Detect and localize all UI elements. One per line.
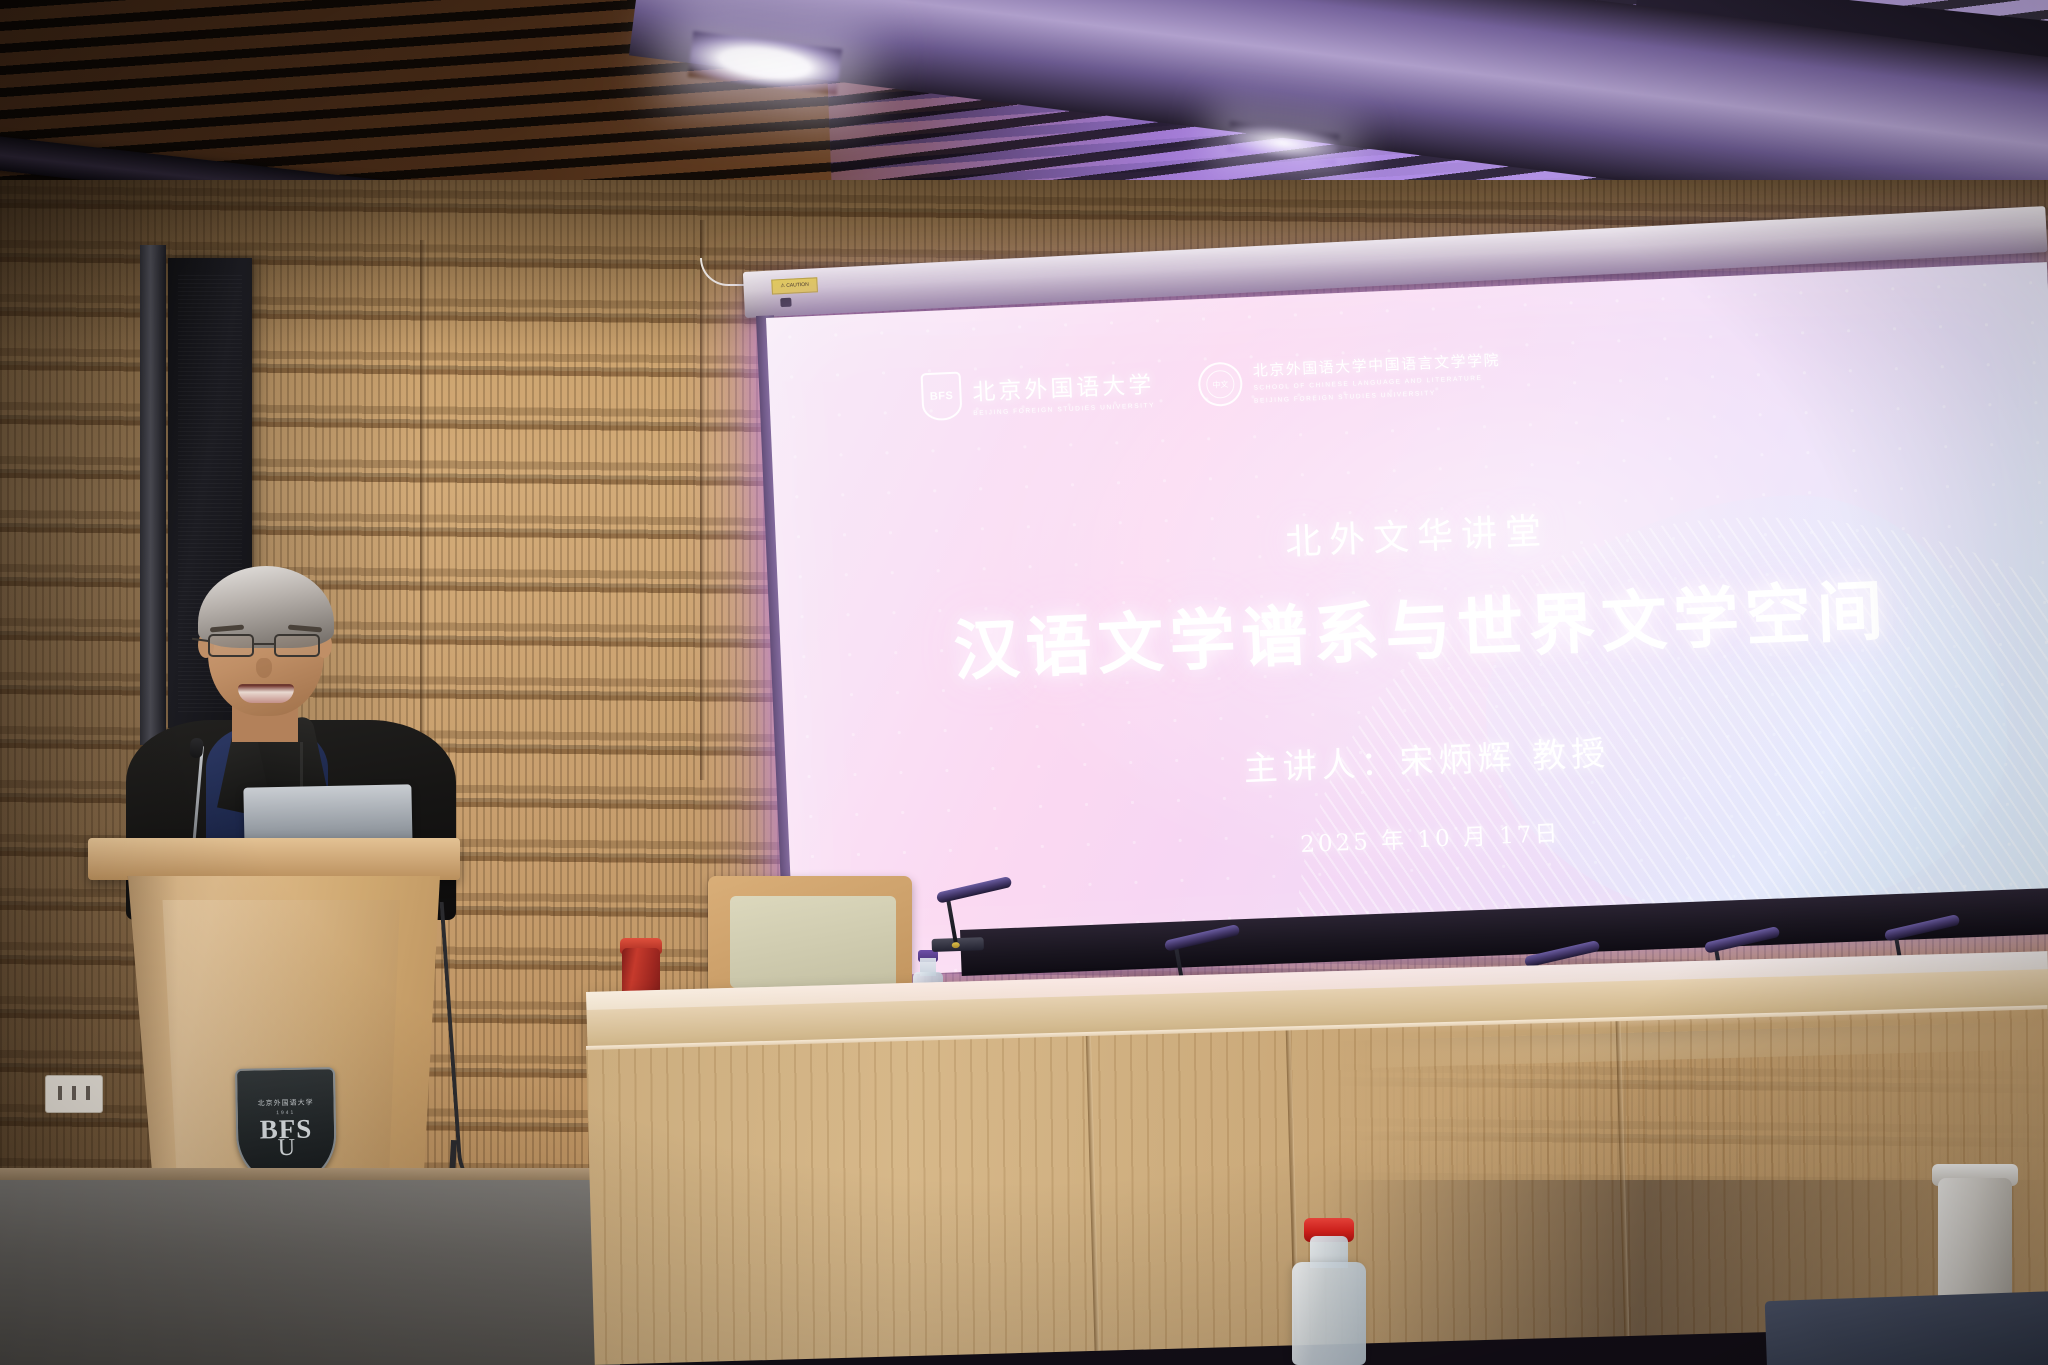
presenter-nose [256,658,272,678]
eyeglasses-icon [202,634,332,658]
floor [0,1180,620,1365]
bfs-emblem-name-cn: 北京外国语大学 [258,1098,314,1109]
foreground-water-bottle[interactable] [1292,1262,1366,1365]
chair-cushion [730,896,896,988]
logo-bfs-name-cn: 北京外国语大学 [972,365,1155,407]
lecture-hall-photo: ⚠ CAUTION BFS 北京外国语大学 BEIJING FOREIGN ST… [0,0,2048,1365]
podium-microphone-icon [189,737,204,758]
bfs-shield-icon: BFS [921,372,963,422]
school-seal-icon: 中文 [1197,361,1243,407]
school-seal-inner-text: 中文 [1206,370,1235,399]
caution-label-icon: ⚠ CAUTION [771,277,818,294]
bfs-emblem-sub-letter: U [278,1138,296,1157]
projection-screen: BFS 北京外国语大学 BEIJING FOREIGN STUDIES UNIV… [766,262,2048,979]
wall-power-outlet[interactable] [45,1075,103,1113]
podium-top-surface [88,838,460,880]
ir-receiver-icon [780,298,791,308]
logo-bfs: BFS 北京外国语大学 BEIJING FOREIGN STUDIES UNIV… [921,363,1156,421]
foreground-mat [1765,1291,2048,1365]
presenter-mouth [238,684,294,703]
